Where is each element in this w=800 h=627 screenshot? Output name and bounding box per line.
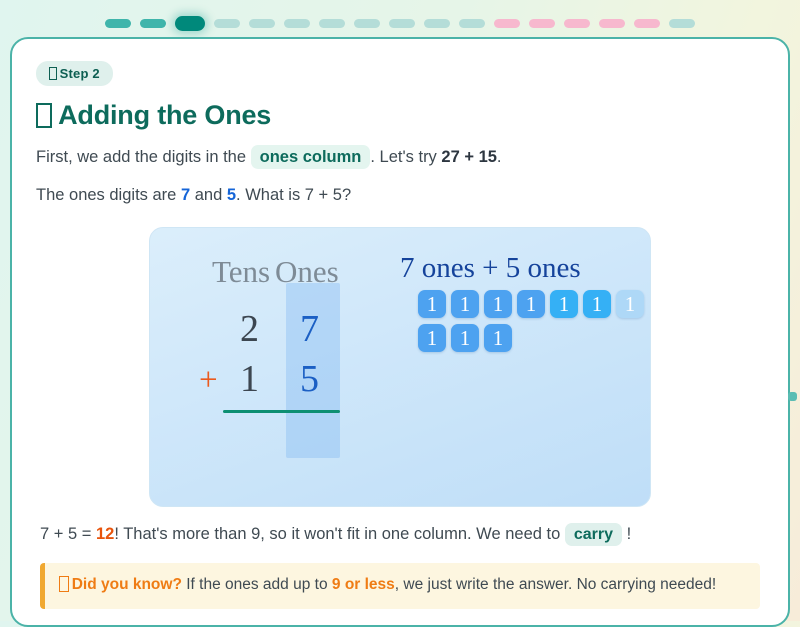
progress-step-16[interactable] (634, 19, 660, 28)
callout-text-1: If the ones add up to (186, 576, 327, 593)
unit-block: 1 (550, 290, 578, 318)
addend1-ones-digit: 7 (300, 310, 319, 348)
unit-block: 1 (616, 290, 644, 318)
page-title: Adding the Ones (36, 100, 764, 131)
progress-step-8[interactable] (354, 19, 380, 28)
progress-step-4[interactable] (214, 19, 240, 28)
lesson-card: Step 2 Adding the Ones First, we add the… (10, 37, 790, 627)
unit-block: 1 (583, 290, 611, 318)
missing-glyph-icon (36, 103, 52, 128)
result-end: ! (627, 525, 632, 543)
column-addition-panel: Tens Ones 2 7 + 1 5 7 ones + 5 ones 1 1 … (149, 227, 651, 507)
column-label-tens: Tens (212, 254, 270, 290)
progress-step-5[interactable] (249, 19, 275, 28)
page-title-text: Adding the Ones (58, 100, 271, 130)
unit-block: 1 (418, 290, 446, 318)
unit-block: 1 (451, 324, 479, 352)
progress-step-17[interactable] (669, 19, 695, 28)
ones-digit-b: 5 (227, 186, 236, 204)
unit-block: 1 (451, 290, 479, 318)
addend1-tens-digit: 2 (240, 310, 259, 348)
progress-step-1[interactable] (105, 19, 131, 28)
step-badge: Step 2 (36, 61, 113, 86)
addend2-tens-digit: 1 (240, 360, 259, 398)
plus-operator: + (199, 362, 218, 399)
intro-text-2: . Let's try (370, 148, 436, 166)
progress-step-6[interactable] (284, 19, 310, 28)
result-paragraph: 7 + 5 = 12! That's more than 9, so it wo… (40, 525, 764, 544)
unit-block: 1 (484, 290, 512, 318)
question-text-2: . What is 7 + 5? (236, 186, 351, 204)
unit-block: 1 (418, 324, 446, 352)
progress-step-15[interactable] (599, 19, 625, 28)
intro-text-1: First, we add the digits in the (36, 148, 246, 166)
ones-column-chip: ones column (251, 145, 371, 169)
edge-marker-dot (788, 392, 797, 401)
missing-glyph-icon (49, 67, 57, 80)
question-joiner: and (195, 186, 223, 204)
progress-step-10[interactable] (424, 19, 450, 28)
progress-step-11[interactable] (459, 19, 485, 28)
step-badge-label: Step 2 (60, 66, 100, 81)
addend2-ones-digit: 5 (300, 360, 319, 398)
ones-digit-a: 7 (181, 186, 190, 204)
carry-chip: carry (565, 523, 622, 546)
intro-paragraph: First, we add the digits in the ones col… (36, 147, 764, 168)
unit-block: 1 (517, 290, 545, 318)
missing-glyph-icon (59, 576, 69, 592)
progress-step-7[interactable] (319, 19, 345, 28)
did-you-know-callout: Did you know? If the ones add up to 9 or… (40, 563, 760, 609)
progress-step-2[interactable] (140, 19, 166, 28)
question-paragraph: The ones digits are 7 and 5. What is 7 +… (36, 185, 764, 206)
progress-step-13[interactable] (529, 19, 555, 28)
unit-block: 1 (484, 324, 512, 352)
intro-text-3: . (497, 148, 502, 166)
progress-indicator (0, 14, 800, 32)
unit-blocks-area: 1 1 1 1 1 1 1 1 1 1 (418, 290, 648, 358)
progress-step-3-active[interactable] (175, 16, 205, 31)
unit-blocks-row-2: 1 1 1 (418, 324, 648, 352)
column-label-ones: Ones (275, 254, 339, 290)
question-text-1: The ones digits are (36, 186, 176, 204)
result-explanation: ! That's more than 9, so it won't fit in… (114, 525, 560, 543)
callout-text-2: , we just write the answer. No carrying … (395, 576, 716, 593)
unit-blocks-row-1: 1 1 1 1 1 1 1 (418, 290, 648, 318)
sum-underline (223, 410, 340, 413)
ones-expression: 7 ones + 5 ones (400, 252, 581, 285)
progress-step-9[interactable] (389, 19, 415, 28)
progress-step-12[interactable] (494, 19, 520, 28)
problem-expression: 27 + 15 (441, 148, 497, 166)
progress-step-14[interactable] (564, 19, 590, 28)
result-equation: 7 + 5 = (40, 525, 91, 543)
callout-highlight: 9 or less (332, 576, 395, 593)
result-sum: 12 (96, 525, 114, 543)
callout-heading: Did you know? (72, 576, 182, 593)
